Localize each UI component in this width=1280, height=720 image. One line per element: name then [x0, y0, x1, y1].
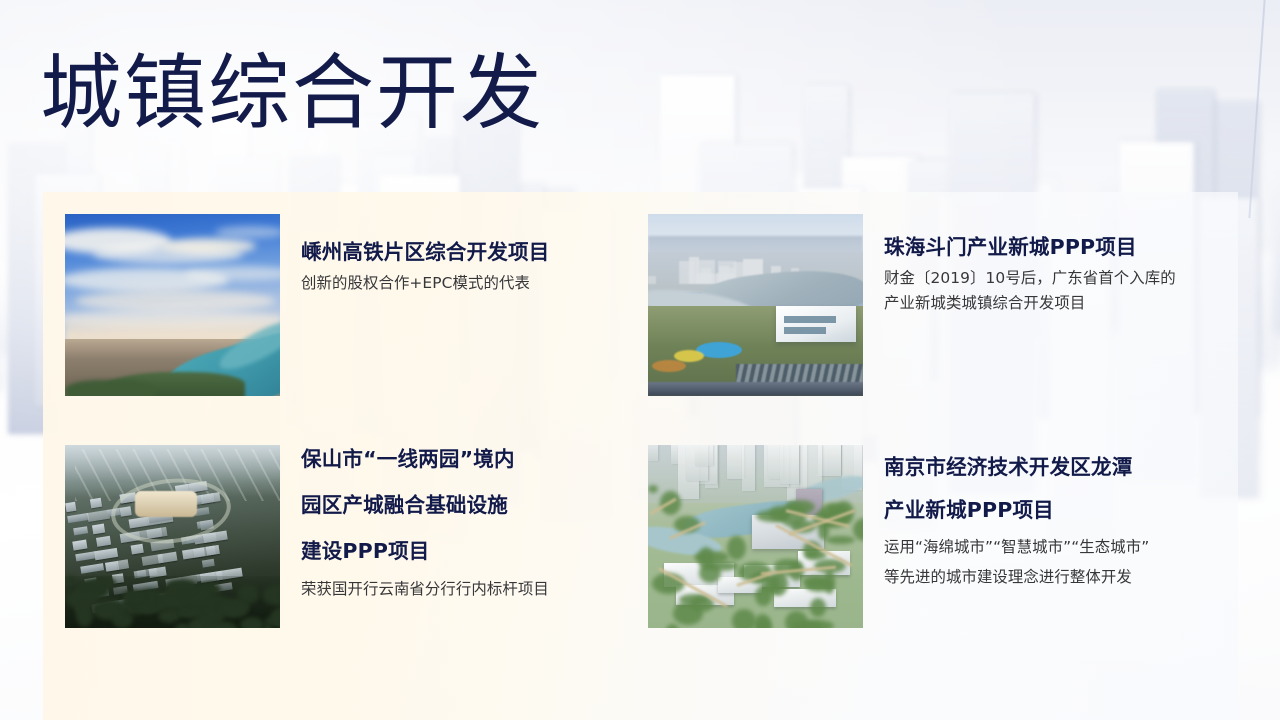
project-thumbnail-zhuhai-doumen: [648, 214, 863, 396]
project-heading: 保山市“一线两园”境内: [301, 438, 646, 481]
project-thumbnail-baoshan: [65, 445, 280, 628]
project-subtitle-line: 产业新城类城镇综合开发项目: [884, 291, 1244, 316]
project-thumbnail-shengzhou: [65, 214, 280, 396]
project-subtitle-line: 等先进的城市建设理念进行整体开发: [884, 565, 1244, 590]
aerial-park-river-building-photo: [648, 214, 863, 396]
project-card-grid: 嵊州高铁片区综合开发项目 创新的股权合作+EPC模式的代表: [43, 192, 1238, 720]
aerial-green-newcity-rendering: [648, 445, 863, 628]
project-subtitle-line: 运用“海绵城市”“智慧城市”“生态城市”: [884, 535, 1244, 560]
project-heading: 嵊州高铁片区综合开发项目: [301, 237, 646, 268]
project-heading: 珠海斗门产业新城PPP项目: [884, 232, 1244, 263]
project-heading: 南京市经济技术开发区龙潭: [884, 447, 1244, 487]
project-subtitle-line: 荣获国开行云南省分行行内标杆项目: [301, 577, 646, 602]
aerial-industrial-park-rendering: [65, 445, 280, 628]
slide-root: 城镇综合开发: [0, 0, 1280, 720]
project-text-shengzhou: 嵊州高铁片区综合开发项目 创新的股权合作+EPC模式的代表: [301, 237, 646, 296]
project-text-zhuhai-doumen: 珠海斗门产业新城PPP项目 财金〔2019〕10号后，广东省首个入库的 产业新城…: [884, 232, 1244, 316]
content-panel: 嵊州高铁片区综合开发项目 创新的股权合作+EPC模式的代表: [43, 192, 1238, 720]
project-subtitle-line: 创新的股权合作+EPC模式的代表: [301, 271, 646, 296]
project-subtitle-line: 财金〔2019〕10号后，广东省首个入库的: [884, 266, 1244, 291]
project-thumbnail-nanjing-longtan: [648, 445, 863, 628]
project-heading: 建设PPP项目: [301, 530, 646, 573]
page-title: 城镇综合开发: [40, 48, 544, 140]
project-text-nanjing-longtan: 南京市经济技术开发区龙潭 产业新城PPP项目 运用“海绵城市”“智慧城市”“生态…: [884, 447, 1244, 590]
project-heading: 产业新城PPP项目: [884, 490, 1244, 530]
project-text-baoshan: 保山市“一线两园”境内 园区产城融合基础设施 建设PPP项目 荣获国开行云南省分…: [301, 438, 646, 602]
project-heading: 园区产城融合基础设施: [301, 484, 646, 527]
aerial-city-river-photo: [65, 214, 280, 396]
